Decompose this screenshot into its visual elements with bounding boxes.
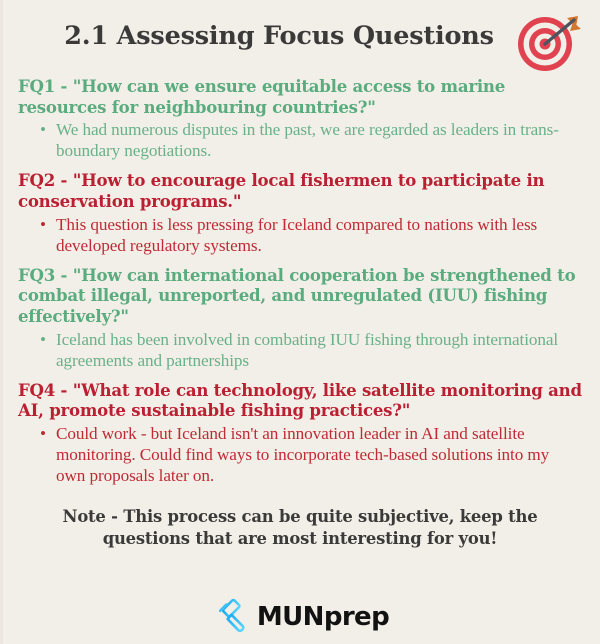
focus-question-block-1: FQ1 - "How can we ensure equitable acces…	[18, 76, 582, 161]
left-edge-strip	[0, 0, 3, 644]
slide-header: 2.1 Assessing Focus Questions	[0, 0, 600, 72]
focus-question-notes: •We had numerous disputes in the past, w…	[18, 119, 582, 161]
focus-question-heading: FQ1 - "How can we ensure equitable acces…	[18, 76, 582, 117]
brand-footer: MUNprep	[0, 598, 600, 636]
list-item-text: Could work - but Iceland isn't an innova…	[56, 424, 549, 485]
list-item: •This question is less pressing for Icel…	[40, 214, 582, 256]
bullet-dot-icon: •	[40, 329, 46, 350]
focus-question-heading: FQ3 - "How can international cooperation…	[18, 265, 582, 327]
list-item: •Could work - but Iceland isn't an innov…	[40, 423, 582, 486]
brand-name: MUNprep	[257, 604, 389, 630]
focus-question-block-2: FQ2 - "How to encourage local fishermen …	[18, 170, 582, 255]
bullet-dot-icon: •	[40, 214, 46, 235]
focus-question-notes: •Iceland has been involved in combating …	[18, 329, 582, 371]
focus-question-heading: FQ2 - "How to encourage local fishermen …	[18, 170, 582, 211]
note-text: Note - This process can be quite subject…	[44, 506, 556, 549]
questions-list: FQ1 - "How can we ensure equitable acces…	[0, 72, 600, 549]
target-dartboard-icon	[512, 6, 584, 74]
gavel-icon	[211, 598, 251, 636]
list-item: •Iceland has been involved in combating …	[40, 329, 582, 371]
focus-question-heading: FQ4 - "What role can technology, like sa…	[18, 380, 582, 421]
list-item-text: We had numerous disputes in the past, we…	[56, 120, 559, 160]
slide-page: 2.1 Assessing Focus Questions FQ1 - "How…	[0, 0, 600, 644]
focus-question-block-3: FQ3 - "How can international cooperation…	[18, 265, 582, 371]
focus-question-notes: •Could work - but Iceland isn't an innov…	[18, 423, 582, 486]
list-item: •We had numerous disputes in the past, w…	[40, 119, 582, 161]
bullet-dot-icon: •	[40, 423, 46, 444]
page-title: 2.1 Assessing Focus Questions	[64, 21, 536, 51]
focus-question-block-4: FQ4 - "What role can technology, like sa…	[18, 380, 582, 487]
focus-question-notes: •This question is less pressing for Icel…	[18, 214, 582, 256]
list-item-text: Iceland has been involved in combating I…	[56, 330, 558, 370]
bullet-dot-icon: •	[40, 119, 46, 140]
list-item-text: This question is less pressing for Icela…	[56, 215, 537, 255]
